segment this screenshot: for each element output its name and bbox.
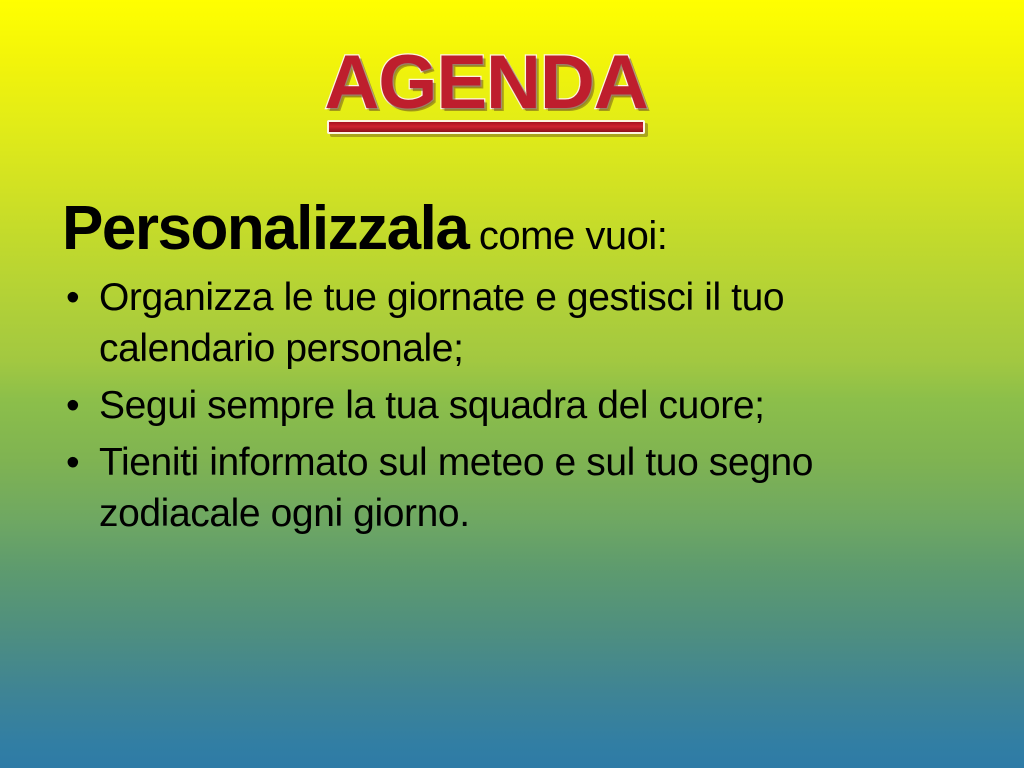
bullet-point-icon: • (66, 380, 79, 431)
bullet-list: • Organizza le tue giornate e gestisci i… (60, 272, 970, 539)
page-title: AGENDA (324, 42, 647, 124)
list-item-text: Tieniti informato sul meteo e sul tuo se… (99, 437, 939, 539)
slide-canvas: AGENDA Personalizzala come vuoi: • Organ… (0, 0, 1024, 768)
slide-title-block: AGENDA (0, 42, 1024, 124)
list-item-text: Organizza le tue giornate e gestisci il … (99, 272, 939, 374)
subheading: Personalizzala come vuoi: (62, 196, 970, 262)
bullet-point-icon: • (66, 272, 79, 323)
list-item: • Segui sempre la tua squadra del cuore; (60, 380, 970, 431)
title-underline-bar (327, 120, 645, 134)
bullet-point-icon: • (66, 437, 79, 488)
list-item: • Organizza le tue giornate e gestisci i… (60, 272, 970, 374)
slide-body: Personalizzala come vuoi: • Organizza le… (60, 196, 970, 545)
subheading-strong: Personalizzala (62, 194, 468, 263)
subheading-normal: come vuoi: (468, 214, 667, 258)
list-item: • Tieniti informato sul meteo e sul tuo … (60, 437, 970, 539)
list-item-text: Segui sempre la tua squadra del cuore; (99, 380, 939, 431)
